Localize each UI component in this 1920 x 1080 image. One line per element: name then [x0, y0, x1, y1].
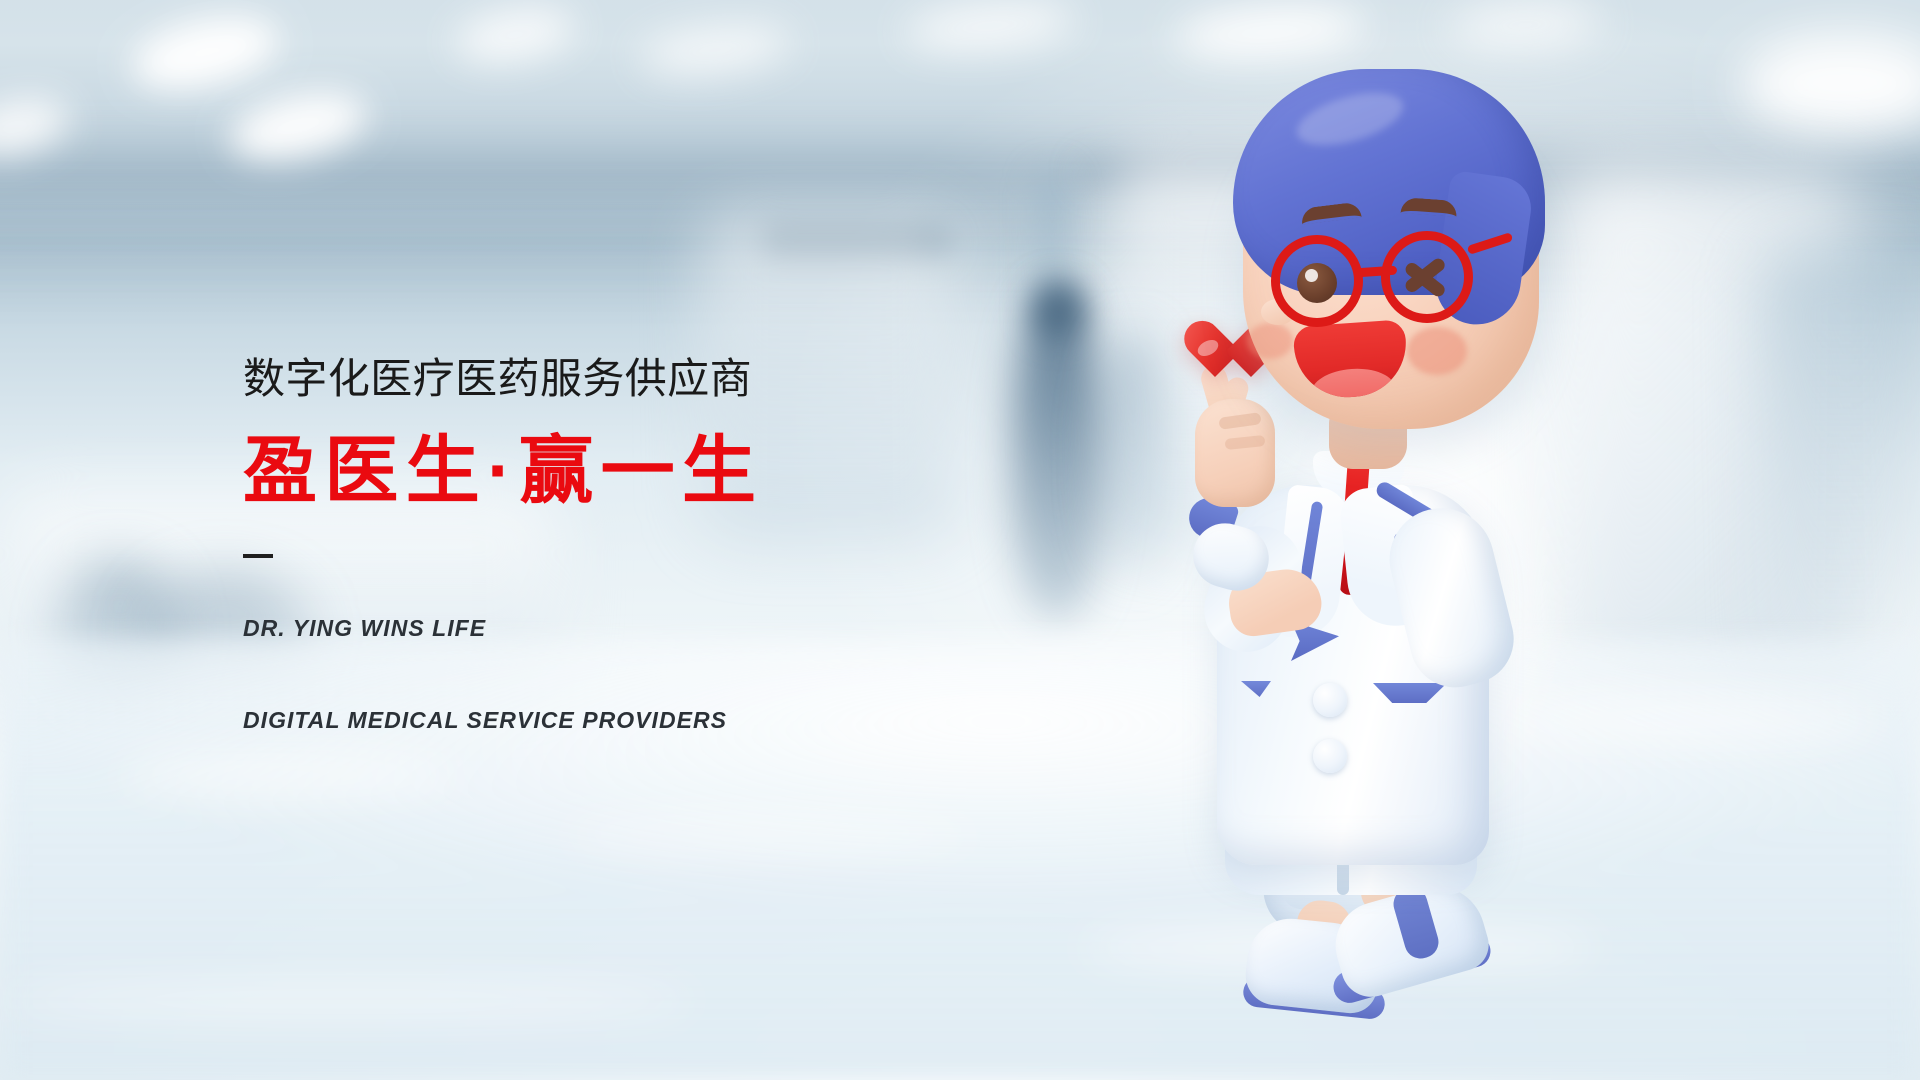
mascot-coat-button [1313, 683, 1347, 717]
floor-highlight [0, 980, 700, 1020]
mascot-coat-button [1313, 739, 1347, 773]
staff-silhouette-head-blur [1034, 282, 1084, 336]
doctor-mascot-illustration [1185, 55, 1605, 1030]
glasses-lens-icon [1381, 231, 1473, 323]
hero-banner: 数字化医疗医药服务供应商 盈医生·赢一生 DR. YING WINS LIFE … [0, 0, 1920, 1080]
hero-kicker: 数字化医疗医药服务供应商 [243, 358, 1143, 400]
divider-rule [243, 554, 273, 558]
heart-icon [1185, 323, 1251, 383]
hero-subtitle-line-2: DIGITAL MEDICAL SERVICE PROVIDERS [243, 698, 1143, 742]
mascot-cheek-blush [1247, 323, 1293, 359]
floor-highlight [120, 760, 460, 790]
hero-subtitle-line-1: DR. YING WINS LIFE [243, 606, 1143, 650]
glasses-lens-icon [1271, 235, 1363, 327]
hero-copy-block: 数字化医疗医药服务供应商 盈医生·赢一生 DR. YING WINS LIFE … [243, 358, 1143, 742]
hero-headline: 盈医生·赢一生 [243, 434, 1143, 508]
mascot-cheek-blush [1407, 327, 1467, 375]
floor-highlight [560, 820, 980, 846]
right-wall-blur [1760, 250, 1920, 680]
